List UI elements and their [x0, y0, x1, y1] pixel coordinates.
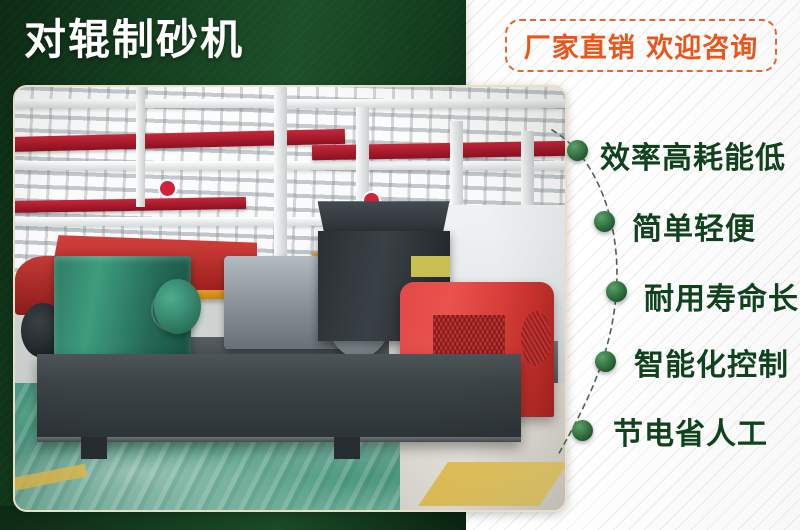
feature-item-2: 简单轻便: [632, 204, 756, 248]
feature-item-5: 节电省人工: [613, 409, 768, 453]
feature-item-4: 智能化控制: [634, 340, 789, 384]
warning-label: [411, 256, 450, 277]
promo-badge[interactable]: 厂家直销 欢迎咨询: [505, 19, 777, 72]
product-photo-canvas: [15, 87, 565, 510]
feature-item-1: 效率高耗能低: [600, 133, 786, 177]
promo-badge-label: 厂家直销 欢迎咨询: [524, 26, 758, 65]
support-column: [274, 87, 287, 277]
feature-bullet-5: [572, 420, 593, 441]
machine-base-frame: [37, 354, 521, 443]
feature-bullet-3: [606, 281, 627, 302]
base-leg: [81, 437, 107, 459]
safety-sign-icon: [158, 179, 177, 198]
page-title: 对辊制砂机: [24, 16, 244, 64]
feature-bullet-1: [567, 140, 588, 161]
promo-banner: 对辊制砂机 厂家直销 欢迎咨询: [0, 0, 800, 530]
base-leg: [334, 437, 360, 459]
machine-base-lip: [37, 437, 521, 442]
feature-bullet-4: [595, 351, 616, 372]
gearbox: [54, 256, 192, 362]
feature-item-3: 耐用寿命长: [644, 274, 799, 318]
ceiling-beam: [15, 161, 565, 170]
product-photo: [13, 85, 567, 512]
support-column: [136, 87, 145, 207]
ceiling-beam: [15, 99, 565, 108]
feature-bullet-2: [594, 211, 615, 232]
